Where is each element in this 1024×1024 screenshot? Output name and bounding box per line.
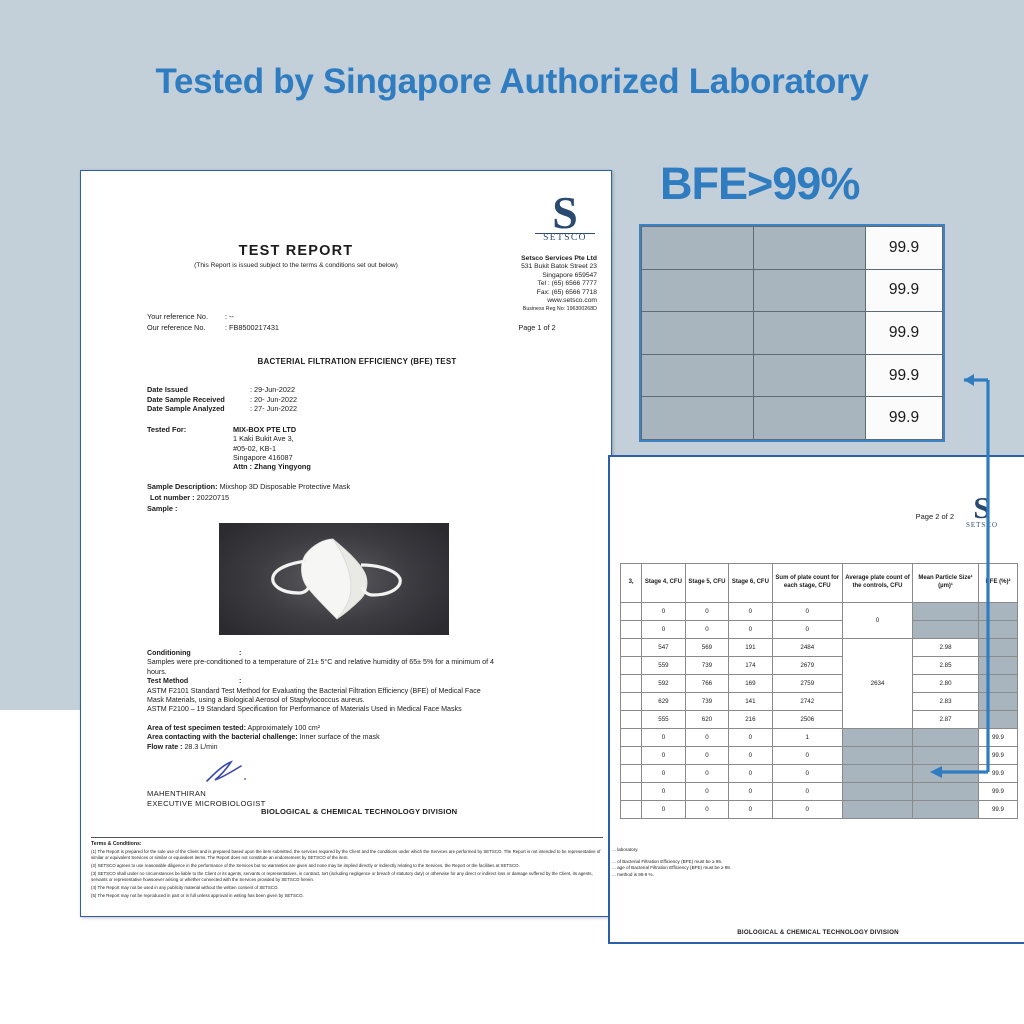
date-issued-label: Date Issued	[147, 385, 250, 395]
sample-description-block: Sample Description: Mixshop 3D Disposabl…	[147, 481, 350, 514]
table-row: 0 0 0 1 99.9	[621, 729, 1018, 747]
conditioning-colon: :	[239, 649, 241, 657]
stage5-cell: 620	[685, 711, 728, 729]
sample-description-row: Sample Description: Mixshop 3D Disposabl…	[147, 481, 350, 492]
reference-numbers-block: Your reference No.: -- Our reference No.…	[147, 311, 279, 333]
mean-particle-size-cell	[913, 729, 979, 747]
footnote-line: ... age of Bacterial Filtration Efficien…	[612, 865, 1024, 872]
table-row: 99.9	[642, 227, 943, 270]
signatory-name: MAHENTHIRAN	[147, 789, 266, 799]
flow-rate-value: 28.3 L/min	[184, 743, 217, 751]
table-row: 547 569 191 2484 2634 2.98	[621, 639, 1018, 657]
average-controls-cell: 2634	[842, 639, 912, 729]
company-registration: Business Reg No: 196300268D	[437, 305, 597, 313]
reference-row: Our reference No.: FB8500217431	[147, 322, 279, 333]
stage5-cell: 569	[685, 639, 728, 657]
stage6-cell: 216	[729, 711, 772, 729]
bfe-cell	[978, 621, 1017, 639]
page-1-number: Page 1 of 2	[477, 323, 597, 332]
col-header-stage4: Stage 4, CFU	[642, 564, 685, 603]
mean-particle-size-cell	[913, 801, 979, 819]
sum-cell: 2506	[772, 711, 842, 729]
stage4-cell: 0	[642, 747, 685, 765]
company-address-block: Setsco Services Pte Ltd 531 Bukit Batok …	[437, 255, 597, 314]
redacted-cell	[642, 397, 754, 440]
bfe-value-cell: 99.9	[866, 227, 943, 270]
flow-rate-label: Flow rate :	[147, 743, 182, 751]
test-report-page-2: Page 2 of 2 S SETSCO 3, Stage 4, CFU Sta…	[608, 455, 1024, 944]
conditioning-text-line-1: Samples were pre-conditioned to a temper…	[147, 658, 567, 667]
page-2-number: Page 2 of 2	[916, 512, 954, 521]
stage6-cell: 0	[729, 621, 772, 639]
date-issued-value: : 29-Jun-2022	[250, 385, 295, 394]
table-row: 99.9	[642, 354, 943, 397]
area-tested-label: Area of test specimen tested:	[147, 724, 246, 732]
bfe-cell: 99.9	[978, 801, 1017, 819]
mask-illustration-icon	[271, 535, 403, 623]
area-contact-label: Area contacting with the bacterial chall…	[147, 733, 298, 741]
bfe-value-cell: 99.9	[866, 312, 943, 355]
table-row: 0 0 0 0	[621, 621, 1018, 639]
stage5-cell: 0	[685, 603, 728, 621]
footnote-line: ... method is 99.9 %.	[612, 872, 1024, 879]
redacted-cell	[642, 354, 754, 397]
stage4-cell: 0	[642, 603, 685, 621]
sum-cell: 2742	[772, 693, 842, 711]
bfe-cell	[978, 639, 1017, 657]
row-index-cell	[621, 621, 642, 639]
sample-description-label: Sample Description:	[147, 482, 218, 491]
redacted-cell	[642, 312, 754, 355]
average-controls-cell	[842, 765, 912, 783]
table-row: 99.9	[642, 312, 943, 355]
terms-title: Terms & Conditions:	[91, 841, 603, 847]
row-index-cell	[621, 675, 642, 693]
col-header-sum: Sum of plate count for each stage, CFU	[772, 564, 842, 603]
row-index-cell	[621, 603, 642, 621]
sample-label: Sample :	[147, 503, 350, 514]
mean-particle-size-cell	[913, 765, 979, 783]
bfe-value-cell: 99.9	[866, 269, 943, 312]
redacted-cell	[642, 269, 754, 312]
redacted-cell	[754, 354, 866, 397]
date-row: Date Sample Analyzed: 27- Jun-2022	[147, 404, 297, 414]
setsco-logo-page2: S SETSCO	[954, 495, 1010, 529]
row-index-cell	[621, 657, 642, 675]
terms-and-conditions: Terms & Conditions: (1) The Report is pr…	[91, 837, 603, 898]
bfe-cell: 99.9	[978, 729, 1017, 747]
page-title: Tested by Singapore Authorized Laborator…	[0, 62, 1024, 102]
client-attention: Attn : Zhang Yingyong	[233, 462, 311, 471]
row-index-cell	[621, 639, 642, 657]
setsco-s-mark-icon: S	[533, 193, 597, 233]
terms-item: (3) SETSCO shall under no circumstances …	[91, 871, 603, 882]
row-index-cell	[621, 783, 642, 801]
col-header-stage6: Stage 6, CFU	[729, 564, 772, 603]
col-header-average: Average plate count of the controls, CFU	[842, 564, 912, 603]
col-header-bfe: BFE (%)²	[978, 564, 1017, 603]
table-row: 559 739 174 2679 2.85	[621, 657, 1018, 675]
stage6-cell: 0	[729, 729, 772, 747]
tested-for-address: MIX-BOX PTE LTD 1 Kaki Bukit Ave 3, #05-…	[233, 425, 311, 471]
stage4-cell: 0	[642, 783, 685, 801]
table-row: 0 0 0 0 0	[621, 603, 1018, 621]
test-method-line-3: ASTM F2100 – 19 Standard Specification f…	[147, 705, 567, 714]
company-city-postal: Singapore 659547	[437, 272, 597, 280]
redacted-cell	[754, 312, 866, 355]
date-received-value: : 20- Jun-2022	[250, 395, 297, 404]
table-header-row: 3, Stage 4, CFU Stage 5, CFU Stage 6, CF…	[621, 564, 1018, 603]
bfe-cell: 99.9	[978, 783, 1017, 801]
setsco-wordmark: SETSCO	[533, 233, 597, 243]
bfe-crop-grid: 99.9 99.9 99.9 99.9 99.9	[641, 226, 943, 440]
our-reference-label: Our reference No.	[147, 322, 225, 333]
sum-cell: 1	[772, 729, 842, 747]
client-name: MIX-BOX PTE LTD	[233, 425, 311, 434]
stage5-cell: 0	[685, 783, 728, 801]
average-controls-cell	[842, 729, 912, 747]
signature-icon	[201, 759, 261, 785]
mean-particle-size-cell	[913, 783, 979, 801]
method-details-block: Conditioning: Samples were pre-condition…	[147, 649, 567, 752]
page-2-footnotes: ... laboratory. ... of Bacterial Filtrat…	[610, 847, 1024, 878]
company-street: 531 Bukit Batok Street 23	[437, 263, 597, 271]
test-method-label: Test Method	[147, 677, 239, 686]
mean-particle-size-cell: 2.85	[913, 657, 979, 675]
stage4-cell: 547	[642, 639, 685, 657]
stage5-cell: 0	[685, 729, 728, 747]
stage4-cell: 555	[642, 711, 685, 729]
average-controls-cell	[842, 783, 912, 801]
redacted-cell	[754, 227, 866, 270]
date-analyzed-value: : 27- Jun-2022	[250, 404, 297, 413]
stage5-cell: 0	[685, 747, 728, 765]
sum-cell: 0	[772, 621, 842, 639]
bfe-cell	[978, 693, 1017, 711]
date-row: Date Issued: 29-Jun-2022	[147, 385, 297, 395]
terms-item: (2) SETSCO agrees to use reasonable dili…	[91, 863, 603, 869]
sum-cell: 0	[772, 801, 842, 819]
average-controls-cell	[842, 801, 912, 819]
test-method-line-2: Mask Materials, using a Biological Aeros…	[147, 696, 567, 705]
stage5-cell: 0	[685, 621, 728, 639]
your-reference-label: Your reference No.	[147, 311, 225, 322]
company-website: www.setsco.com	[437, 297, 597, 305]
row-index-cell	[621, 693, 642, 711]
conditioning-label: Conditioning	[147, 649, 239, 658]
stage6-cell: 169	[729, 675, 772, 693]
mean-particle-size-cell	[913, 603, 979, 621]
tested-for-label: Tested For:	[147, 425, 186, 434]
stage4-cell: 0	[642, 765, 685, 783]
stage5-cell: 739	[685, 657, 728, 675]
division-label-page2: BIOLOGICAL & CHEMICAL TECHNOLOGY DIVISIO…	[610, 929, 1024, 936]
redacted-cell	[642, 227, 754, 270]
row-index-cell	[621, 765, 642, 783]
our-reference-value: : FB8500217431	[225, 323, 279, 332]
terms-item: (4) The Report may not be used in any pu…	[91, 885, 603, 891]
test-method-line-1: ASTM F2101 Standard Test Method for Eval…	[147, 687, 567, 696]
sum-cell: 0	[772, 603, 842, 621]
sum-cell: 2484	[772, 639, 842, 657]
bfe-cell	[978, 657, 1017, 675]
row-index-cell	[621, 729, 642, 747]
redacted-cell	[754, 397, 866, 440]
stage4-cell: 0	[642, 729, 685, 747]
bfe-cell: 99.9	[978, 747, 1017, 765]
mean-particle-size-cell: 2.80	[913, 675, 979, 693]
bfe-cell: 99.9	[978, 765, 1017, 783]
stage4-cell: 592	[642, 675, 685, 693]
mean-particle-size-cell: 2.83	[913, 693, 979, 711]
stage6-cell: 0	[729, 783, 772, 801]
sample-description-value: Mixshop 3D Disposable Protective Mask	[220, 482, 351, 491]
division-label-page1: BIOLOGICAL & CHEMICAL TECHNOLOGY DIVISIO…	[261, 807, 457, 816]
stage5-cell: 739	[685, 693, 728, 711]
date-received-label: Date Sample Received	[147, 395, 250, 405]
table-row: 0 0 0 0 99.9	[621, 801, 1018, 819]
terms-item: (1) The Report is prepared for the sole …	[91, 849, 603, 860]
stage5-cell: 0	[685, 801, 728, 819]
reference-row: Your reference No.: --	[147, 311, 279, 322]
mean-particle-size-cell: 2.98	[913, 639, 979, 657]
sum-cell: 0	[772, 783, 842, 801]
sum-cell: 0	[772, 747, 842, 765]
client-unit: #05-02, KB-1	[233, 444, 311, 453]
mean-particle-size-cell	[913, 621, 979, 639]
redacted-cell	[754, 269, 866, 312]
lot-number-row: Lot number : 20220715	[147, 492, 350, 503]
bfe-claim-label: BFE>99%	[660, 158, 960, 210]
signatory-block: MAHENTHIRAN EXECUTIVE MICROBIOLOGIST	[147, 789, 266, 809]
stage6-cell: 141	[729, 693, 772, 711]
date-row: Date Sample Received: 20- Jun-2022	[147, 395, 297, 405]
client-street: 1 Kaki Bukit Ave 3,	[233, 434, 311, 443]
bfe-results-grid: 3, Stage 4, CFU Stage 5, CFU Stage 6, CF…	[620, 563, 1018, 819]
test-heading: BACTERIAL FILTRATION EFFICIENCY (BFE) TE…	[81, 357, 611, 366]
row-index-cell	[621, 801, 642, 819]
average-controls-cell	[842, 747, 912, 765]
client-postal: Singapore 416087	[233, 453, 311, 462]
company-name: Setsco Services Pte Ltd	[437, 255, 597, 263]
col-header-mean-particle-size: Mean Particle Size¹ (µm)¹	[913, 564, 979, 603]
stage6-cell: 0	[729, 801, 772, 819]
mean-particle-size-cell	[913, 747, 979, 765]
lot-number-label: Lot number :	[150, 493, 195, 502]
terms-item: (5) The Report may not be reproduced in …	[91, 893, 603, 899]
bfe-value-cell: 99.9	[866, 397, 943, 440]
conditioning-text-line-2: hours.	[147, 668, 567, 677]
setsco-logo-page1: S SETSCO	[533, 193, 597, 253]
area-contact-value: Inner surface of the mask	[300, 733, 380, 741]
bfe-cell	[978, 711, 1017, 729]
mean-particle-size-cell: 2.87	[913, 711, 979, 729]
test-report-page-1: S SETSCO TEST REPORT (This Report is iss…	[80, 170, 612, 917]
bfe-value-cell: 99.9	[866, 354, 943, 397]
table-row: 592 766 169 2759 2.80	[621, 675, 1018, 693]
table-row: 99.9	[642, 397, 943, 440]
your-reference-value: : --	[225, 312, 234, 321]
bfe-crop-table: 99.9 99.9 99.9 99.9 99.9	[639, 224, 945, 442]
row-index-cell	[621, 747, 642, 765]
stage4-cell: 0	[642, 801, 685, 819]
sample-photo	[219, 523, 449, 635]
setsco-s-mark-icon: S	[954, 495, 1010, 521]
stage5-cell: 766	[685, 675, 728, 693]
stage6-cell: 174	[729, 657, 772, 675]
sum-cell: 2759	[772, 675, 842, 693]
company-tel: Tel : (65) 6566 7777	[437, 280, 597, 288]
row-index-cell	[621, 711, 642, 729]
sum-cell: 2679	[772, 657, 842, 675]
company-fax: Fax: (65) 6566 7718	[437, 289, 597, 297]
table-row: 0 0 0 0 99.9	[621, 747, 1018, 765]
footnote-line: ... of Bacterial Filtration Efficiency (…	[612, 859, 1024, 866]
average-controls-cell: 0	[842, 603, 912, 639]
lot-number-value: 20220715	[197, 493, 229, 502]
bfe-results-table: 3, Stage 4, CFU Stage 5, CFU Stage 6, CF…	[620, 563, 1018, 819]
dates-block: Date Issued: 29-Jun-2022 Date Sample Rec…	[147, 385, 297, 414]
footnote-line: ... laboratory.	[612, 847, 1024, 854]
date-analyzed-label: Date Sample Analyzed	[147, 404, 250, 414]
stage4-cell: 629	[642, 693, 685, 711]
stage6-cell: 0	[729, 747, 772, 765]
stage6-cell: 0	[729, 765, 772, 783]
stage4-cell: 559	[642, 657, 685, 675]
stage6-cell: 191	[729, 639, 772, 657]
table-row: 99.9	[642, 269, 943, 312]
table-row: 629 739 141 2742 2.83	[621, 693, 1018, 711]
test-method-colon: :	[239, 677, 241, 685]
area-tested-value: Approximately 100 cm²	[248, 724, 321, 732]
stage6-cell: 0	[729, 603, 772, 621]
col-header-stage3-partial: 3,	[621, 564, 642, 603]
table-row: 555 620 216 2506 2.87	[621, 711, 1018, 729]
stage5-cell: 0	[685, 765, 728, 783]
sum-cell: 0	[772, 765, 842, 783]
setsco-wordmark: SETSCO	[954, 521, 1010, 529]
table-row: 0 0 0 0 99.9	[621, 783, 1018, 801]
stage4-cell: 0	[642, 621, 685, 639]
table-row: 0 0 0 0 99.9	[621, 765, 1018, 783]
bfe-cell	[978, 675, 1017, 693]
terms-divider	[91, 837, 603, 838]
bfe-cell	[978, 603, 1017, 621]
col-header-stage5: Stage 5, CFU	[685, 564, 728, 603]
signatory-title: EXECUTIVE MICROBIOLOGIST	[147, 799, 266, 809]
